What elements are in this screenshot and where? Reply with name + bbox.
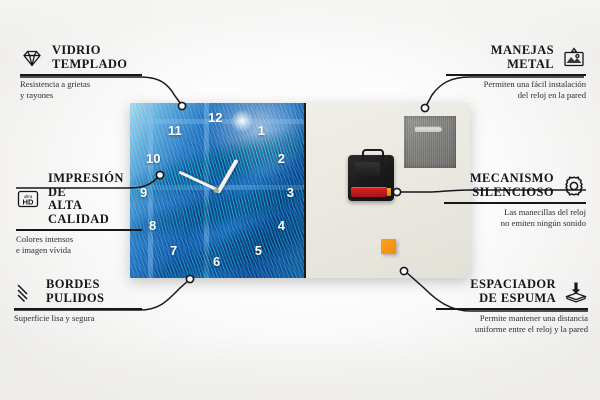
callout-bordes-pulidos: BORDES PULIDOS Superficie lisa y segura bbox=[14, 278, 142, 324]
clock-numeral-10: 10 bbox=[146, 152, 160, 165]
callout-manejas-metal: MANEJAS METAL Permiten una fácil instala… bbox=[446, 44, 586, 101]
callout-title-line2: PULIDOS bbox=[46, 292, 104, 306]
hanger-keyhole-slot bbox=[414, 126, 442, 132]
callout-rule bbox=[14, 308, 142, 310]
clock-numeral-5: 5 bbox=[255, 244, 262, 257]
face-wave-ribbon bbox=[130, 154, 304, 260]
foam-spacer-pad bbox=[381, 239, 396, 254]
callout-title-line1: BORDES bbox=[46, 278, 104, 292]
ultra-hd-icon: ultra HD bbox=[16, 187, 40, 211]
clock-numeral-4: 4 bbox=[278, 219, 285, 232]
callout-rule bbox=[20, 74, 142, 76]
face-grid-line bbox=[204, 103, 209, 278]
aa-battery bbox=[351, 187, 387, 197]
callout-title-line1: MANEJAS bbox=[491, 44, 554, 58]
movement-housing-detail bbox=[354, 162, 380, 176]
callout-subtitle-line1: Las manecillas del reloj bbox=[444, 207, 586, 218]
callout-mecanismo-silencioso: MECANISMO SILENCIOSO Las manecillas del … bbox=[444, 172, 586, 229]
face-grid-line bbox=[148, 103, 153, 278]
callout-subtitle-line1: Resistencia a grietas bbox=[20, 79, 142, 90]
callout-subtitle-line2: no emiten ningún sonido bbox=[444, 218, 586, 229]
clock-numeral-8: 8 bbox=[149, 219, 156, 232]
callout-subtitle-line2: y rayones bbox=[20, 90, 142, 101]
product-image: 12 1 2 3 4 5 6 7 8 9 10 11 bbox=[130, 103, 470, 278]
callout-title-line2: DE ESPUMA bbox=[470, 292, 556, 306]
clock-numeral-7: 7 bbox=[170, 244, 177, 257]
callout-subtitle-line2: del reloj en la pared bbox=[446, 90, 586, 101]
polished-edges-icon bbox=[14, 280, 38, 304]
gear-icon bbox=[562, 174, 586, 198]
clock-numeral-1: 1 bbox=[258, 124, 265, 137]
callout-rule bbox=[16, 229, 142, 231]
callout-subtitle-line1: Permiten una fácil instalación bbox=[446, 79, 586, 90]
callout-subtitle-line1: Permite mantener una distancia bbox=[436, 313, 588, 324]
infographic-canvas: 12 1 2 3 4 5 6 7 8 9 10 11 bbox=[0, 0, 600, 400]
face-highlight bbox=[229, 108, 255, 134]
diamond-icon bbox=[20, 46, 44, 70]
svg-text:HD: HD bbox=[23, 197, 34, 206]
callout-espaciador-espuma: ESPACIADOR DE ESPUMA Permite mantener un… bbox=[436, 278, 588, 335]
callout-title-line2: SILENCIOSO bbox=[470, 186, 554, 200]
callout-subtitle-line1: Superficie lisa y segura bbox=[14, 313, 142, 324]
callout-vidrio-templado: VIDRIO TEMPLADO Resistencia a grietas y … bbox=[20, 44, 142, 101]
callout-title-line2: METAL bbox=[491, 58, 554, 72]
callout-rule bbox=[436, 308, 588, 310]
clock-numeral-2: 2 bbox=[278, 152, 285, 165]
callout-impresion-alta-calidad: ultra HD IMPRESIÓN DE ALTA CALIDAD Color… bbox=[16, 172, 142, 256]
callout-subtitle-line2: e imagen vívida bbox=[16, 245, 142, 256]
callout-title-line1: ESPACIADOR bbox=[470, 278, 556, 292]
clock-numeral-6: 6 bbox=[213, 255, 220, 268]
foam-spacer-icon bbox=[564, 280, 588, 304]
callout-subtitle-line1: Colores intensos bbox=[16, 234, 142, 245]
callout-title-line2: ALTA CALIDAD bbox=[48, 199, 142, 226]
clock-front-face: 12 1 2 3 4 5 6 7 8 9 10 11 bbox=[130, 103, 304, 278]
callout-rule bbox=[444, 202, 586, 204]
movement-hook-tab bbox=[362, 149, 384, 160]
metal-hanger-plate bbox=[404, 116, 456, 168]
callout-title-line1: MECANISMO bbox=[470, 172, 554, 186]
clock-numeral-3: 3 bbox=[287, 186, 294, 199]
callout-title-line1: VIDRIO bbox=[52, 44, 127, 58]
quartz-movement bbox=[348, 155, 394, 201]
callout-rule bbox=[446, 74, 586, 76]
clock-numeral-11: 11 bbox=[168, 124, 182, 137]
picture-hanger-icon bbox=[562, 46, 586, 70]
callout-title-line2: TEMPLADO bbox=[52, 58, 127, 72]
callout-subtitle-line2: uniforme entre el reloj y la pared bbox=[436, 324, 588, 335]
clock-numeral-12: 12 bbox=[208, 111, 222, 124]
callout-title-line1: IMPRESIÓN DE bbox=[48, 172, 142, 199]
